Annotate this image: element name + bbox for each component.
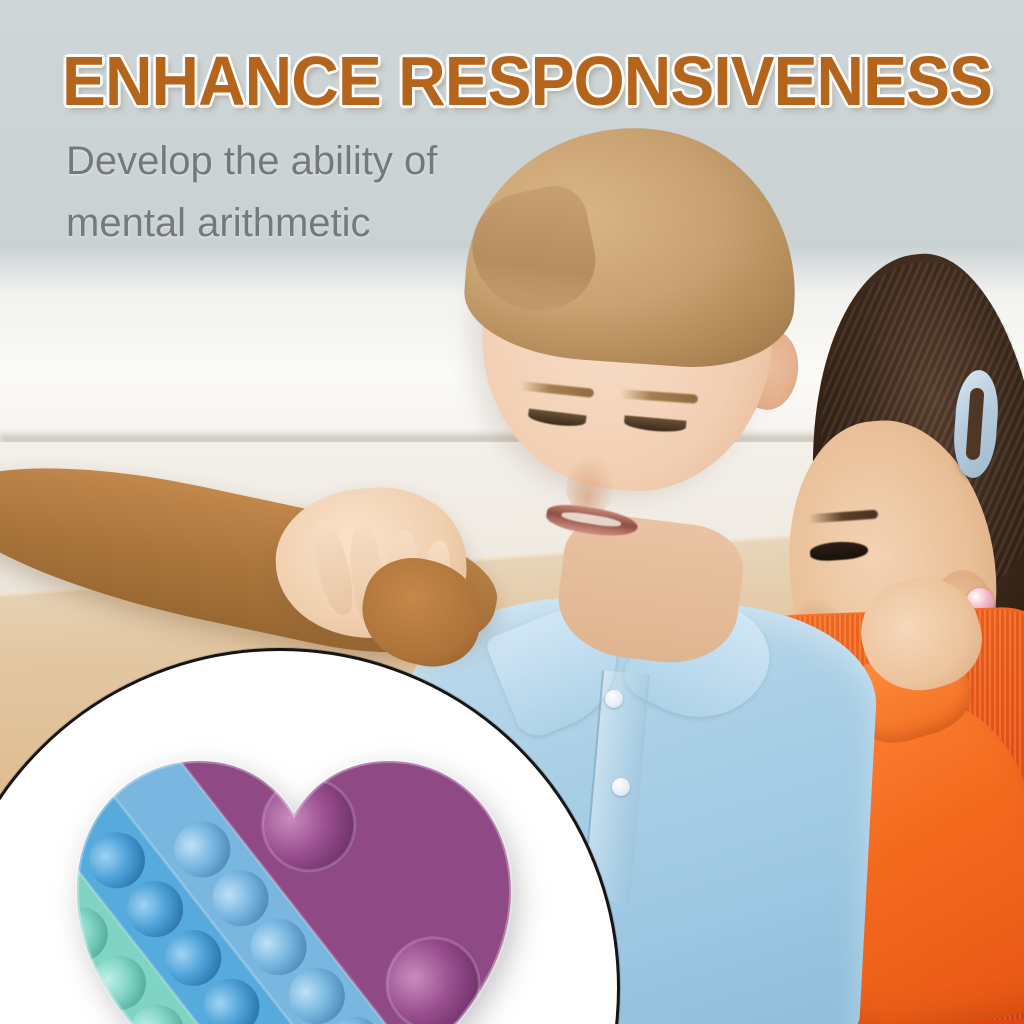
subheadline-line-1: Develop the ability of <box>66 130 536 192</box>
boy-shirt-button <box>605 690 623 708</box>
subheadline: Develop the ability of mental arithmetic <box>66 130 536 254</box>
boy-shirt-button <box>612 778 630 796</box>
pop-it-heart-toy <box>59 709 529 1024</box>
headline: ENHANCE RESPONSIVENESS <box>62 46 908 116</box>
heart-silhouette <box>59 709 529 1024</box>
subheadline-line-2: mental arithmetic <box>66 192 536 254</box>
product-banner: ENHANCE RESPONSIVENESS Develop the abili… <box>0 0 1024 1024</box>
